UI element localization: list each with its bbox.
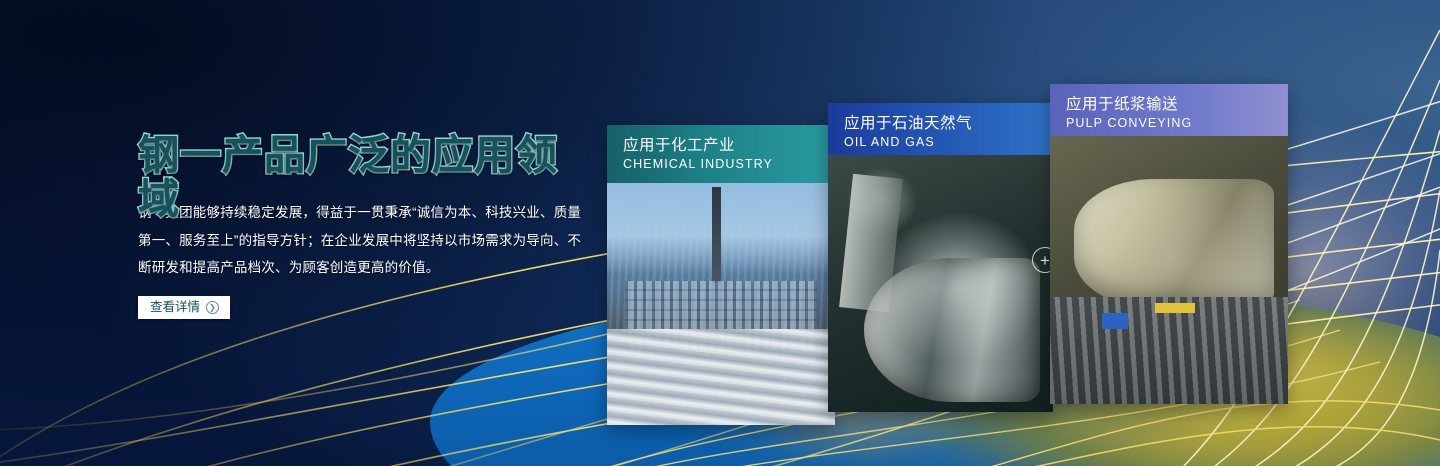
view-details-button[interactable]: 查看详情 ❯ (138, 296, 230, 319)
photo-pipes (607, 329, 835, 425)
page-title-wrap: 钢一产品广泛的应用领域 钢一产品广泛的应用领域 (138, 133, 598, 185)
card-title-cn: 应用于纸浆输送 (1066, 95, 1288, 114)
pulp-conveying-roller-photo (1050, 136, 1288, 404)
application-card-oil-gas[interactable]: 应用于石油天然气 OIL AND GAS + (828, 103, 1053, 412)
photo-roller (1074, 179, 1274, 308)
view-details-label: 查看详情 (150, 301, 200, 314)
card-title-en: PULP CONVEYING (1066, 115, 1288, 132)
card-caption-chemical: 应用于化工产业 CHEMICAL INDUSTRY (607, 125, 835, 183)
oil-gas-equipment-photo (828, 155, 1053, 412)
photo-yellow-part (1155, 303, 1195, 313)
card-title-en: OIL AND GAS (844, 134, 1053, 151)
photo-machine-base (1050, 297, 1288, 404)
card-caption-oil-gas: 应用于石油天然气 OIL AND GAS (828, 103, 1053, 155)
photo-smokestack (712, 187, 721, 283)
hero-copy: 钢一产品广泛的应用领域 钢一产品广泛的应用领域 钢一集团能够持续稳定发展，得益于… (138, 133, 598, 319)
card-caption-pulp: 应用于纸浆输送 PULP CONVEYING (1050, 84, 1288, 136)
card-title-cn: 应用于化工产业 (623, 136, 835, 155)
hero-banner: 钢一产品广泛的应用领域 钢一产品广泛的应用领域 钢一集团能够持续稳定发展，得益于… (0, 0, 1440, 466)
arrow-right-circle-icon: ❯ (206, 301, 219, 314)
photo-pressure-vessel (864, 258, 1040, 402)
page-title-outline: 钢一产品广泛的应用领域 (138, 133, 598, 222)
photo-blue-part (1102, 313, 1128, 329)
application-card-pulp[interactable]: 应用于纸浆输送 PULP CONVEYING (1050, 84, 1288, 404)
application-card-chemical[interactable]: 应用于化工产业 CHEMICAL INDUSTRY (607, 125, 835, 425)
card-title-cn: 应用于石油天然气 (844, 114, 1053, 133)
card-title-en: CHEMICAL INDUSTRY (623, 156, 835, 173)
chemical-plant-photo (607, 183, 835, 425)
